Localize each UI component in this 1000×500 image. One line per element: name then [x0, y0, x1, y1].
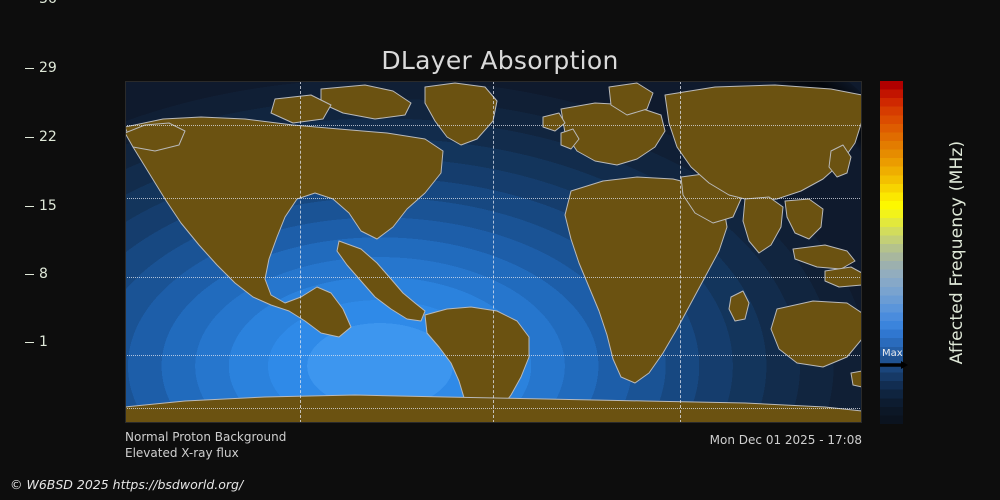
gridline-vertical	[680, 81, 681, 423]
colorbar-tick-label: 22	[39, 129, 57, 145]
colorbar-tick-label: 8	[39, 266, 48, 282]
colorbar-tick-label: 1	[39, 334, 48, 350]
colorbar-axis-label: Affected Frequency (MHz)	[943, 81, 971, 424]
gridline-equator	[125, 277, 862, 278]
colorbar-tick-mark	[25, 68, 34, 69]
timestamp: Mon Dec 01 2025 - 17:08	[710, 433, 862, 447]
colorbar-max-marker: Max	[880, 350, 926, 374]
gridline-horizontal	[125, 355, 862, 356]
page-title: DLayer Absorption	[0, 46, 1000, 75]
colorbar-ticks: 3629221581	[23, 0, 83, 343]
gridline-vertical	[300, 81, 301, 423]
colorbar[interactable]: Max	[880, 81, 903, 424]
page-root: DLayer Absorption	[0, 0, 1000, 500]
colorbar-max-label: Max	[882, 348, 903, 359]
colorbar-tick-label: 15	[39, 198, 57, 214]
colorbar-tick-mark	[25, 274, 34, 275]
colorbar-tick-mark	[25, 342, 34, 343]
gridline-vertical	[493, 81, 494, 423]
gridline-horizontal	[125, 198, 862, 199]
colorbar-tick-label: 36	[39, 0, 57, 7]
gridline-horizontal	[125, 408, 862, 409]
arrow-right-icon	[880, 361, 908, 369]
colorbar-tick-label: 29	[39, 60, 57, 76]
status-line-1: Normal Proton Background	[125, 429, 286, 445]
colorbar-tick-mark	[25, 137, 34, 138]
copyright-notice: © W6BSD 2025 https://bsdworld.org/	[10, 477, 243, 492]
colorbar-tick-mark	[25, 206, 34, 207]
status-text: Normal Proton Background Elevated X-ray …	[125, 429, 286, 461]
absorption-map[interactable]	[125, 81, 862, 423]
gridline-horizontal	[125, 125, 862, 126]
status-line-2: Elevated X-ray flux	[125, 445, 286, 461]
